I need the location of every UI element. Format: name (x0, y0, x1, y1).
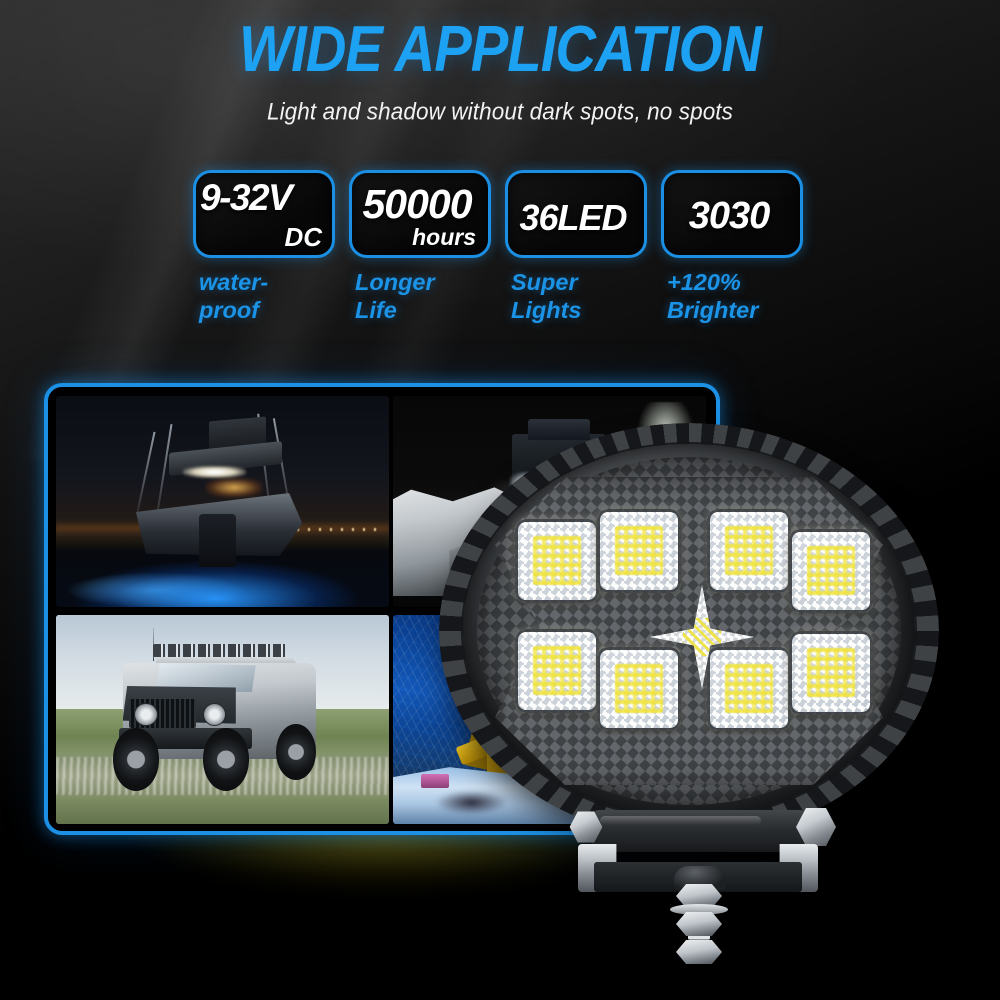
feature-badge-brighter: 3030 +120% Brighter (661, 170, 803, 345)
led-module (597, 647, 681, 731)
bracket-heatsink-bar (592, 810, 807, 852)
jeep-wheel (203, 728, 250, 791)
feature-value: 36LED (508, 197, 638, 239)
jeep-headlight-left (134, 703, 157, 726)
fishing-rod (136, 431, 155, 514)
jeep-wheel (113, 728, 160, 791)
feature-value-unit: DC (284, 222, 322, 253)
feature-badge-super-lights: 36LED Super Lights (505, 170, 647, 345)
cabin-light-glow (206, 478, 263, 497)
hex-nut (676, 912, 722, 936)
feature-value: 50000 (352, 181, 482, 228)
mounting-bracket (570, 800, 840, 985)
feature-value-box: 3030 (661, 170, 803, 258)
feature-label: water- proof (193, 269, 335, 324)
feature-value-box: 36LED (505, 170, 647, 258)
feature-label: +120% Brighter (661, 269, 803, 324)
jeep-wheel (276, 724, 316, 780)
photo-boat-night (56, 396, 389, 607)
led-module (789, 631, 873, 715)
feature-value-box: 9-32V DC (193, 170, 335, 258)
outboard-motor (199, 514, 236, 567)
feature-label: Super Lights (505, 269, 647, 324)
led-work-light-product (449, 433, 929, 829)
feature-value: 9-32V (200, 177, 322, 219)
feature-badge-longer-life: 50000 hours Longer Life (349, 170, 491, 345)
roof-light-bar (153, 644, 286, 657)
page-subtitle: Light and shadow without dark spots, no … (0, 98, 1000, 125)
led-module (789, 529, 873, 613)
feature-badge-row: 9-32V DC water- proof 50000 hours Longer… (193, 170, 813, 345)
hex-nut (676, 940, 722, 964)
boat-deck-light (183, 466, 246, 479)
led-module (597, 509, 681, 593)
page-title: WIDE APPLICATION (15, 16, 985, 84)
led-module (515, 519, 599, 603)
photo-jeep-offroad (56, 615, 389, 824)
feature-label: Longer Life (349, 269, 491, 324)
pink-equipment (421, 774, 449, 789)
feature-value: 3030 (664, 195, 794, 238)
feature-value-unit: hours (412, 224, 476, 251)
led-module (707, 647, 791, 731)
header: WIDE APPLICATION Light and shadow withou… (0, 16, 1000, 125)
led-module (515, 629, 599, 713)
led-module (707, 509, 791, 593)
feature-badge-waterproof: 9-32V DC water- proof (193, 170, 335, 345)
feature-value-box: 50000 hours (349, 170, 491, 258)
jeep-headlight-right (203, 703, 226, 726)
